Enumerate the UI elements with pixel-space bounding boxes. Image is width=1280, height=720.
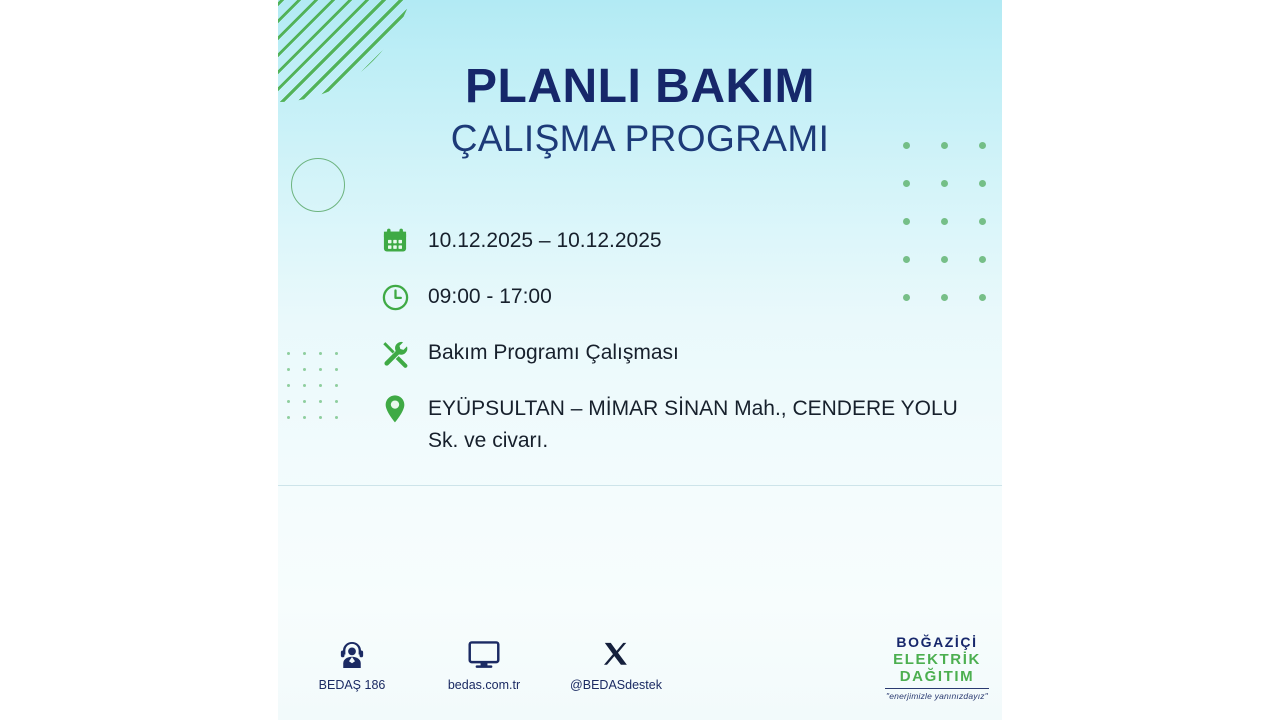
circle-outline-decoration — [291, 158, 345, 212]
brand-line-bogazici: BOĞAZİÇİ — [878, 634, 996, 651]
contact-label-call-center: BEDAŞ 186 — [319, 678, 386, 692]
detail-location-text: EYÜPSULTAN – MİMAR SİNAN Mah., CENDERE Y… — [428, 392, 978, 457]
clock-icon — [378, 280, 412, 314]
footer-contact-row: BEDAŞ 186 bedas.com.tr — [304, 638, 664, 692]
contact-item-website[interactable]: bedas.com.tr — [436, 638, 532, 692]
detail-row-date: 10.12.2025 – 10.12.2025 — [378, 224, 978, 258]
brand-divider — [885, 688, 989, 689]
dot-grid-left-decoration — [287, 352, 351, 432]
detail-row-location: EYÜPSULTAN – MİMAR SİNAN Mah., CENDERE Y… — [378, 392, 978, 457]
bedas-logo: BOĞAZİÇİ ELEKTRİK DAĞITIM "enerjimizle y… — [878, 634, 996, 701]
detail-row-time: 09:00 - 17:00 — [378, 280, 978, 314]
detail-row-worktype: Bakım Programı Çalışması — [378, 336, 978, 370]
page-title: PLANLI BAKIM — [278, 62, 1002, 112]
screenshot-root: PLANLI BAKIM ÇALIŞMA PROGRAMI — [0, 0, 1280, 720]
detail-time-text: 09:00 - 17:00 — [428, 280, 552, 313]
location-pin-icon — [378, 392, 412, 426]
detail-date-text: 10.12.2025 – 10.12.2025 — [428, 224, 662, 257]
page-title-block: PLANLI BAKIM ÇALIŞMA PROGRAMI — [278, 62, 1002, 161]
page-subtitle: ÇALIŞMA PROGRAMI — [278, 118, 1002, 161]
brand-line-elektrik: ELEKTRİK — [878, 651, 996, 668]
maintenance-details-list: 10.12.2025 – 10.12.2025 09:00 - 17:00 — [378, 224, 978, 457]
headset-operator-icon — [337, 638, 367, 672]
detail-worktype-text: Bakım Programı Çalışması — [428, 336, 679, 369]
x-twitter-icon — [602, 638, 630, 672]
calendar-icon — [378, 224, 412, 258]
contact-item-x[interactable]: @BEDASdestek — [568, 638, 664, 692]
contact-label-website: bedas.com.tr — [448, 678, 520, 692]
tools-icon — [378, 336, 412, 370]
contact-item-call-center[interactable]: BEDAŞ 186 — [304, 638, 400, 692]
brand-tagline: "enerjimizle yanınızdayız" — [878, 691, 996, 701]
contact-label-x: @BEDASdestek — [570, 678, 662, 692]
planned-maintenance-card: PLANLI BAKIM ÇALIŞMA PROGRAMI — [278, 0, 1002, 720]
brand-line-dagitim: DAĞITIM — [878, 668, 996, 685]
monitor-icon — [468, 638, 500, 672]
